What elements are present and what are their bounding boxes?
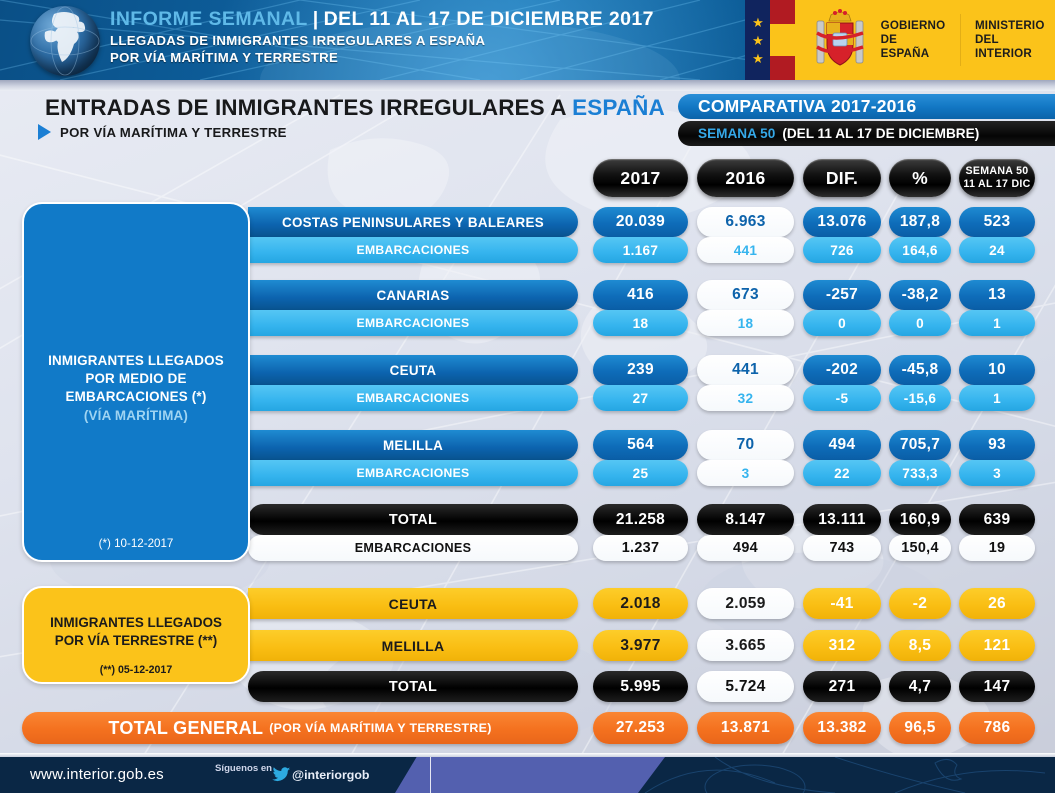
emblem-divider [960, 14, 961, 66]
cell-terrestrial-total-5: 147 [959, 671, 1035, 702]
subcell-maritime-4-2: 3 [697, 460, 794, 486]
subcell-maritime-1-1: 1.167 [593, 237, 688, 263]
cell-maritime-2-4: -38,2 [889, 280, 951, 310]
row-label-text: MELILLA [382, 638, 445, 654]
subcell-value: 164,6 [902, 243, 938, 258]
row-sublabel-maritime-1: EMBARCACIONES [248, 237, 578, 263]
subcell-maritime-1-2: 441 [697, 237, 794, 263]
cell-value: -45,8 [902, 361, 939, 379]
maritime-panel-line3: EMBARCACIONES (*) [48, 388, 224, 406]
subcell-maritime-3-5: 1 [959, 385, 1035, 411]
subcell-value: 743 [830, 540, 855, 556]
terrestrial-panel-text: INMIGRANTES LLEGADOS POR VÍA TERRESTRE (… [50, 614, 222, 650]
subcell-maritime-3-3: -5 [803, 385, 881, 411]
column-header-3: DIF. [803, 159, 881, 197]
row-label-text: TOTAL [389, 679, 437, 695]
maritime-panel-footnote: (*) 10-12-2017 [99, 537, 174, 550]
subcell-value: 733,3 [902, 466, 938, 481]
row-label-maritime-2: CANARIAS [248, 280, 578, 310]
row-sublabel-text: EMBARCACIONES [357, 243, 470, 257]
cell-maritime-2-2: 673 [697, 280, 794, 310]
row-sublabel-maritime-total: EMBARCACIONES [248, 535, 578, 561]
header-bottom-band [0, 80, 1055, 91]
cell-value: 441 [732, 361, 759, 379]
cell-value: 2.059 [725, 595, 765, 613]
row-label-text: TOTAL [389, 512, 437, 528]
subcell-maritime-1-3: 726 [803, 237, 881, 263]
subcell-value: 19 [989, 540, 1006, 556]
subcell-value: 441 [734, 243, 758, 258]
column-header-5: SEMANA 5011 AL 17 DIC [959, 159, 1035, 197]
globe-icon [30, 6, 100, 76]
column-header-label-line2: 11 AL 17 DIC [963, 178, 1030, 191]
subcell-maritime-3-1: 27 [593, 385, 688, 411]
row-sublabel-text: EMBARCACIONES [357, 466, 470, 480]
cell-terrestrial-2-2: 3.665 [697, 630, 794, 661]
week-range-label: (DEL 11 AL 17 DE DICIEMBRE) [782, 126, 979, 141]
row-label-terrestrial-1: CEUTA [248, 588, 578, 619]
week-banner: SEMANA 50 (DEL 11 AL 17 DE DICIEMBRE) [678, 121, 1055, 146]
comparative-banner: COMPARATIVA 2017-2016 [678, 94, 1055, 119]
report-header: INFORME SEMANAL|DEL 11 AL 17 DE DICIEMBR… [0, 0, 1055, 80]
cell-value: 187,8 [900, 213, 940, 231]
terrestrial-panel: INMIGRANTES LLEGADOS POR VÍA TERRESTRE (… [22, 586, 250, 684]
subcell-maritime-4-4: 733,3 [889, 460, 951, 486]
cell-value: 93 [988, 436, 1006, 454]
cell-terrestrial-2-4: 8,5 [889, 630, 951, 661]
subcell-value: 150,4 [901, 540, 939, 556]
subcell-maritime-total-2: 494 [697, 535, 794, 561]
row-label-text: CANARIAS [376, 288, 449, 303]
spain-coat-of-arms-icon [809, 7, 871, 73]
cell-maritime-3-5: 10 [959, 355, 1035, 385]
subcell-maritime-3-2: 32 [697, 385, 794, 411]
subcell-maritime-4-5: 3 [959, 460, 1035, 486]
subcell-maritime-total-3: 743 [803, 535, 881, 561]
cell-terrestrial-2-5: 121 [959, 630, 1035, 661]
cell-maritime-2-5: 13 [959, 280, 1035, 310]
cell-value: 8,5 [909, 637, 931, 655]
cell-value: 5.995 [620, 678, 660, 696]
column-header-label: 2017 [620, 168, 660, 189]
cell-maritime-total-2: 8.147 [697, 504, 794, 535]
subcell-maritime-2-5: 1 [959, 310, 1035, 336]
cell-value: 312 [829, 637, 856, 655]
twitter-bird-icon[interactable] [272, 767, 291, 788]
column-header-label: DIF. [826, 168, 858, 189]
row-label-text: CEUTA [389, 596, 438, 612]
subcell-maritime-total-4: 150,4 [889, 535, 951, 561]
cell-value: -38,2 [902, 286, 939, 304]
subcell-maritime-4-1: 25 [593, 460, 688, 486]
subcell-value: 25 [633, 466, 649, 481]
header-text-block: INFORME SEMANAL|DEL 11 AL 17 DE DICIEMBR… [110, 8, 654, 66]
grand-total-label: TOTAL GENERAL [108, 718, 263, 739]
cell-maritime-4-4: 705,7 [889, 430, 951, 460]
row-label-maritime-1: COSTAS PENINSULARES Y BALEARES [248, 207, 578, 237]
subcell-value: 24 [989, 243, 1005, 258]
gobierno-label: GOBIERNO DE ESPAÑA [881, 19, 946, 61]
cell-value: 4,7 [909, 678, 931, 696]
cell-maritime-1-5: 523 [959, 207, 1035, 237]
cell-value: 26 [988, 595, 1006, 613]
cell-maritime-1-3: 13.076 [803, 207, 881, 237]
subcell-maritime-2-4: 0 [889, 310, 951, 336]
column-header-4: % [889, 159, 951, 197]
subcell-value: -5 [836, 391, 849, 406]
cell-value: -41 [830, 595, 853, 613]
header-title-separator: | [308, 8, 324, 30]
gobierno-label-line1: GOBIERNO [881, 19, 946, 33]
cell-maritime-total-4: 160,9 [889, 504, 951, 535]
cell-maritime-4-1: 564 [593, 430, 688, 460]
cell-maritime-4-5: 93 [959, 430, 1035, 460]
subcell-maritime-2-2: 18 [697, 310, 794, 336]
cell-maritime-total-3: 13.111 [803, 504, 881, 535]
subcell-value: 18 [738, 316, 754, 331]
cell-value: 121 [984, 637, 1011, 655]
subcell-value: 1.167 [623, 243, 659, 258]
cell-terrestrial-1-4: -2 [889, 588, 951, 619]
cell-value: 160,9 [900, 511, 940, 529]
maritime-panel-text: INMIGRANTES LLEGADOS POR MEDIO DE EMBARC… [48, 352, 224, 425]
subcell-value: 1 [993, 391, 1001, 406]
comparative-label: COMPARATIVA 2017-2016 [698, 96, 916, 117]
cell-terrestrial-2-3: 312 [803, 630, 881, 661]
cell-value: 494 [829, 436, 856, 454]
infographic-page: INFORME SEMANAL|DEL 11 AL 17 DE DICIEMBR… [0, 0, 1055, 793]
cell-grand-total-4: 96,5 [889, 712, 951, 744]
footer-accent-shape [395, 757, 665, 793]
subcell-value: 3 [993, 466, 1001, 481]
report-footer: www.interior.gob.es Síguenos en @interio… [0, 757, 1055, 793]
row-sublabel-text: EMBARCACIONES [357, 391, 470, 405]
cell-maritime-total-1: 21.258 [593, 504, 688, 535]
cell-value: 639 [984, 511, 1011, 529]
maritime-panel-subtitle: (VÍA MARÍTIMA) [48, 406, 224, 425]
cell-value: 2.018 [620, 595, 660, 613]
cell-value: 13.111 [818, 511, 866, 529]
cell-maritime-1-2: 6.963 [697, 207, 794, 237]
header-title-line: INFORME SEMANAL|DEL 11 AL 17 DE DICIEMBR… [110, 8, 654, 31]
subcell-value: 0 [838, 316, 846, 331]
cell-maritime-2-1: 416 [593, 280, 688, 310]
cell-value: -202 [826, 361, 858, 379]
subcell-value: 18 [633, 316, 649, 331]
cell-value: 271 [829, 678, 856, 696]
row-label-text: MELILLA [383, 438, 443, 453]
column-header-2: 2016 [697, 159, 794, 197]
column-header-label: 2016 [725, 168, 765, 189]
subcell-maritime-2-3: 0 [803, 310, 881, 336]
subcell-value: 726 [830, 243, 854, 258]
cell-grand-total-3: 13.382 [803, 712, 881, 744]
ministerio-label-line2: DEL INTERIOR [975, 33, 1055, 61]
cell-maritime-3-1: 239 [593, 355, 688, 385]
subcell-maritime-4-3: 22 [803, 460, 881, 486]
row-sublabel-maritime-2: EMBARCACIONES [248, 310, 578, 336]
cell-maritime-2-3: -257 [803, 280, 881, 310]
column-header-label-line1: SEMANA 50 [966, 165, 1029, 178]
cell-terrestrial-1-3: -41 [803, 588, 881, 619]
subcell-maritime-total-5: 19 [959, 535, 1035, 561]
cell-maritime-4-3: 494 [803, 430, 881, 460]
cell-value: 5.724 [725, 678, 765, 696]
week-number-label: SEMANA 50 [698, 126, 775, 141]
cell-value: 8.147 [725, 511, 765, 529]
footer-world-lines [635, 757, 1055, 793]
row-sublabel-maritime-4: EMBARCACIONES [248, 460, 578, 486]
cell-terrestrial-total-3: 271 [803, 671, 881, 702]
header-subtitle-1: LLEGADAS DE INMIGRANTES IRREGULARES A ES… [110, 33, 654, 50]
cell-terrestrial-total-1: 5.995 [593, 671, 688, 702]
cell-value: 705,7 [900, 436, 940, 454]
cell-value: 13.382 [817, 719, 866, 737]
header-subtitle-2: POR VÍA MARÍTIMA Y TERRESTRE [110, 50, 654, 67]
eu-stars-icon: ★★★ [745, 0, 770, 80]
row-label-text: CEUTA [390, 363, 437, 378]
subcell-maritime-1-4: 164,6 [889, 237, 951, 263]
cell-value: 786 [984, 719, 1011, 737]
cell-grand-total-2: 13.871 [697, 712, 794, 744]
column-header-label: % [912, 168, 928, 189]
cell-value: 6.963 [725, 213, 765, 231]
grand-total-sublabel: (POR VÍA MARÍTIMA Y TERRESTRE) [269, 721, 491, 735]
footer-twitter-handle[interactable]: @interiorgob [292, 768, 369, 782]
row-label-terrestrial-total: TOTAL [248, 671, 578, 702]
subcell-value: 1 [993, 316, 1001, 331]
ministerio-label: MINISTERIO DEL INTERIOR [975, 19, 1055, 61]
subcell-value: -15,6 [904, 391, 936, 406]
subcell-value: 3 [742, 466, 750, 481]
subcell-maritime-1-5: 24 [959, 237, 1035, 263]
row-sublabel-maritime-3: EMBARCACIONES [248, 385, 578, 411]
row-label-terrestrial-2: MELILLA [248, 630, 578, 661]
page-title: ENTRADAS DE INMIGRANTES IRREGULARES A ES… [45, 95, 665, 121]
cell-maritime-4-2: 70 [697, 430, 794, 460]
subcell-maritime-3-4: -15,6 [889, 385, 951, 411]
cell-value: 523 [984, 213, 1011, 231]
row-label-maritime-3: CEUTA [248, 355, 578, 385]
triangle-right-icon [38, 124, 51, 140]
spain-flag-stripes [770, 0, 795, 80]
gobierno-label-line2: DE ESPAÑA [881, 33, 946, 61]
ministerio-label-line1: MINISTERIO [975, 19, 1055, 33]
row-sublabel-text: EMBARCACIONES [357, 316, 470, 330]
page-subtitle: POR VÍA MARÍTIMA Y TERRESTRE [38, 124, 287, 140]
maritime-panel: INMIGRANTES LLEGADOS POR MEDIO DE EMBARC… [22, 202, 250, 562]
cell-terrestrial-1-5: 26 [959, 588, 1035, 619]
row-label-maritime-total: TOTAL [248, 504, 578, 535]
cell-terrestrial-1-1: 2.018 [593, 588, 688, 619]
page-title-main: ENTRADAS DE INMIGRANTES IRREGULARES A [45, 95, 572, 120]
cell-value: 70 [737, 436, 755, 454]
terrestrial-panel-line2: POR VÍA TERRESTRE (**) [50, 632, 222, 650]
terrestrial-panel-footnote: (**) 05-12-2017 [100, 664, 172, 676]
cell-value: 10 [988, 361, 1006, 379]
cell-value: 20.039 [616, 213, 665, 231]
government-emblem-block: ★★★ GOBIERNO [745, 0, 1055, 80]
cell-value: 416 [627, 286, 654, 304]
footer-url[interactable]: www.interior.gob.es [30, 766, 164, 783]
cell-grand-total-5: 786 [959, 712, 1035, 744]
cell-maritime-1-4: 187,8 [889, 207, 951, 237]
subcell-value: 27 [633, 391, 649, 406]
subcell-maritime-2-1: 18 [593, 310, 688, 336]
subcell-value: 32 [738, 391, 754, 406]
header-title-a: INFORME SEMANAL [110, 8, 308, 30]
cell-value: 147 [984, 678, 1011, 696]
cell-value: 564 [627, 436, 654, 454]
row-label-maritime-4: MELILLA [248, 430, 578, 460]
cell-terrestrial-total-2: 5.724 [697, 671, 794, 702]
page-subtitle-label: POR VÍA MARÍTIMA Y TERRESTRE [60, 125, 287, 140]
subcell-value: 494 [733, 540, 758, 556]
row-label-grand-total: TOTAL GENERAL (POR VÍA MARÍTIMA Y TERRES… [22, 712, 578, 744]
maritime-panel-line1: INMIGRANTES LLEGADOS [48, 352, 224, 370]
cell-terrestrial-total-4: 4,7 [889, 671, 951, 702]
cell-value: 239 [627, 361, 654, 379]
cell-value: 673 [732, 286, 759, 304]
column-header-1: 2017 [593, 159, 688, 197]
cell-terrestrial-2-1: 3.977 [593, 630, 688, 661]
footer-follow-label: Síguenos en [215, 763, 272, 774]
cell-maritime-total-5: 639 [959, 504, 1035, 535]
row-label-text: COSTAS PENINSULARES Y BALEARES [282, 215, 544, 230]
cell-value: 3.977 [620, 637, 660, 655]
subcell-value: 1.237 [622, 540, 660, 556]
cell-maritime-3-2: 441 [697, 355, 794, 385]
subcell-value: 22 [834, 466, 850, 481]
cell-value: 13.871 [721, 719, 770, 737]
maritime-panel-line2: POR MEDIO DE [48, 370, 224, 388]
cell-value: 3.665 [725, 637, 765, 655]
cell-value: 21.258 [616, 511, 665, 529]
cell-value: -2 [913, 595, 927, 613]
cell-grand-total-1: 27.253 [593, 712, 688, 744]
row-sublabel-text: EMBARCACIONES [355, 541, 472, 555]
cell-maritime-3-4: -45,8 [889, 355, 951, 385]
cell-terrestrial-1-2: 2.059 [697, 588, 794, 619]
cell-value: 13.076 [817, 213, 866, 231]
cell-value: 13 [988, 286, 1006, 304]
cell-maritime-1-1: 20.039 [593, 207, 688, 237]
cell-value: -257 [826, 286, 858, 304]
cell-maritime-3-3: -202 [803, 355, 881, 385]
terrestrial-panel-line1: INMIGRANTES LLEGADOS [50, 614, 222, 632]
header-title-b: DEL 11 AL 17 DE DICIEMBRE 2017 [324, 8, 654, 30]
cell-value: 96,5 [904, 719, 935, 737]
subcell-maritime-total-1: 1.237 [593, 535, 688, 561]
subcell-value: 0 [916, 316, 924, 331]
page-title-accent: ESPAÑA [572, 95, 665, 120]
footer-accent-line [430, 757, 431, 793]
cell-value: 27.253 [616, 719, 665, 737]
